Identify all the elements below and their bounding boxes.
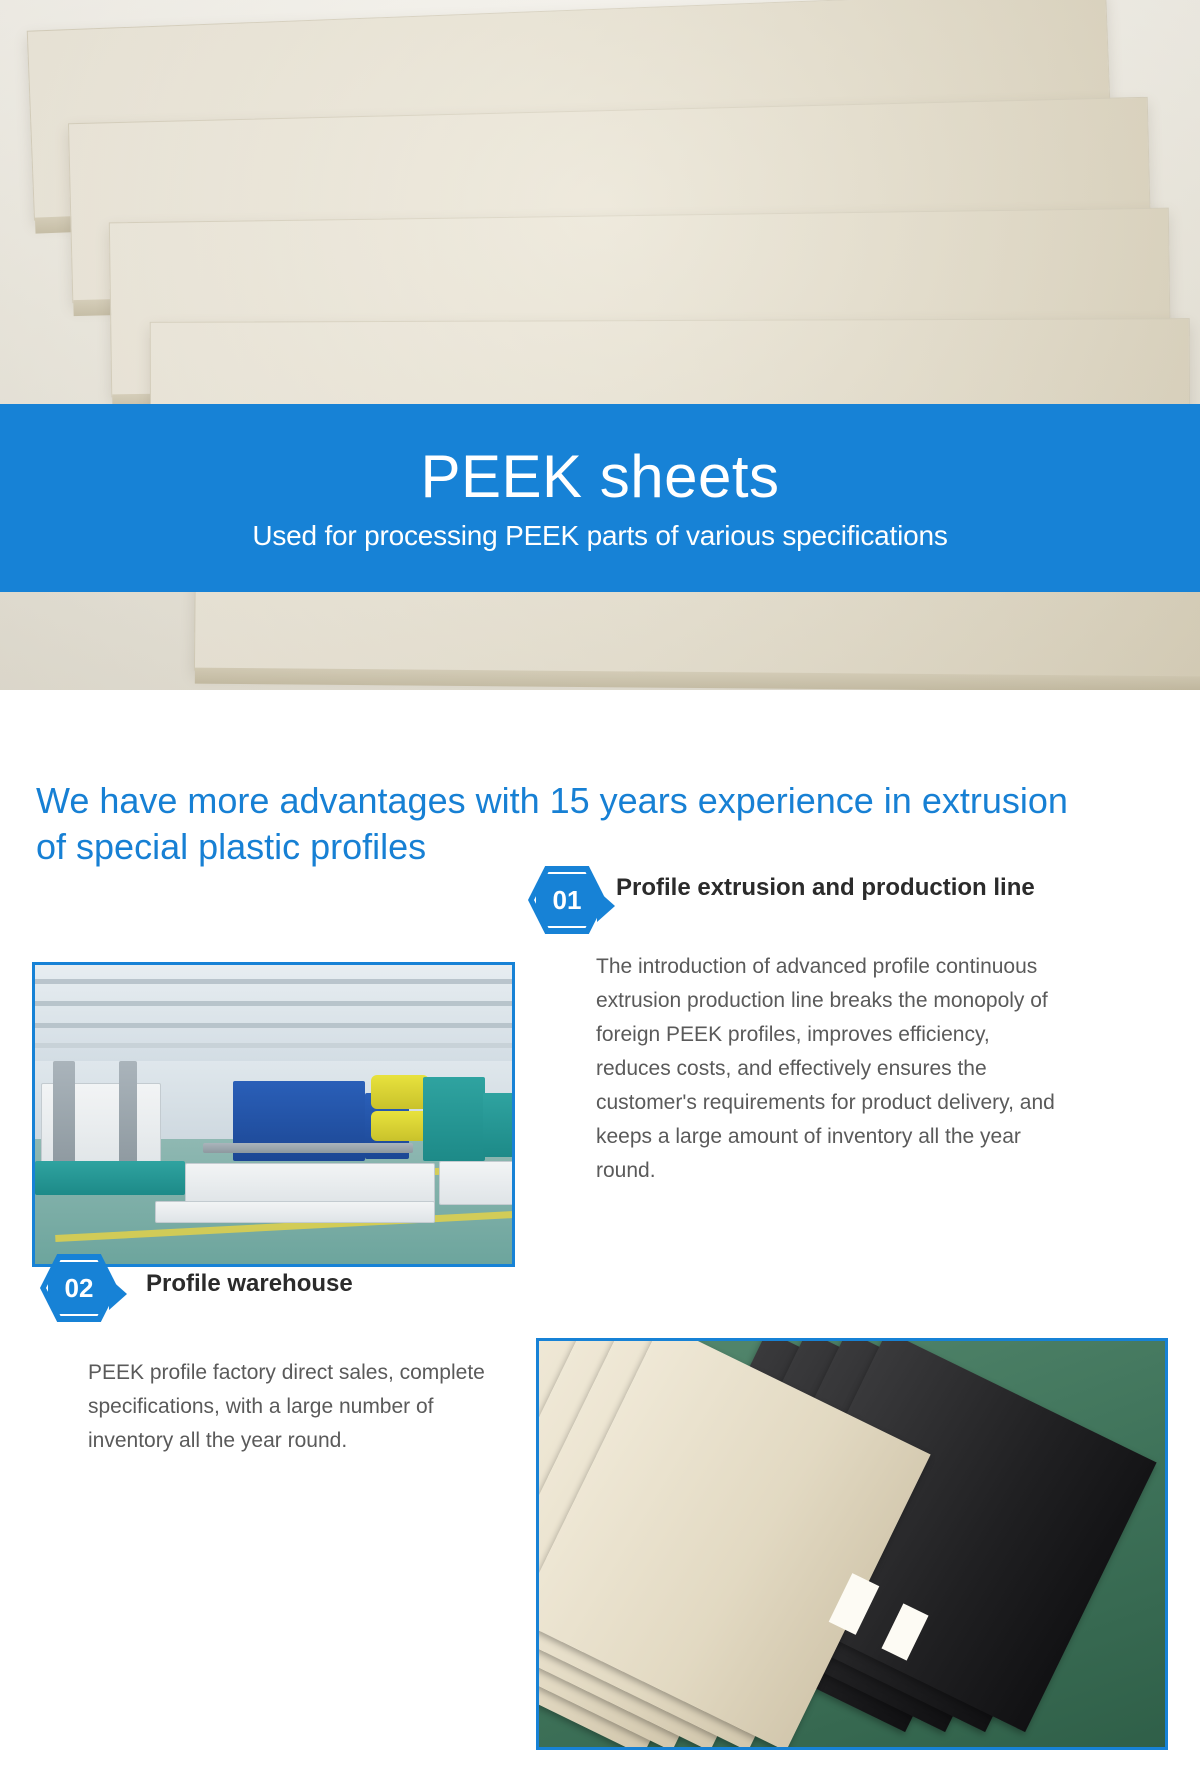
machine-cabinet — [439, 1161, 515, 1205]
advantages-headline: We have more advantages with 15 years ex… — [36, 778, 1076, 870]
machine-post — [53, 1061, 75, 1171]
warehouse-photo — [536, 1338, 1168, 1750]
ceiling-beam — [35, 1001, 512, 1006]
section-badge-02-number: 02 — [46, 1260, 112, 1316]
hero-subtitle: Used for processing PEEK parts of variou… — [252, 520, 947, 552]
production-line-photo — [32, 962, 515, 1267]
section-01-body: The introduction of advanced profile con… — [596, 950, 1066, 1188]
hero-section: PEEK sheets Used for processing PEEK par… — [0, 0, 1200, 690]
machine-pallet — [185, 1163, 435, 1205]
machine-teal-right — [423, 1077, 485, 1161]
section-02-title: Profile warehouse — [146, 1268, 506, 1300]
machine-post — [119, 1061, 137, 1171]
ceiling-beam — [35, 1023, 512, 1028]
machine-teal-far — [483, 1093, 515, 1157]
machine-skid — [155, 1201, 435, 1223]
machine-base-teal — [35, 1161, 185, 1195]
hero-title-band: PEEK sheets Used for processing PEEK par… — [0, 404, 1200, 592]
section-badge-02-pointer — [109, 1278, 127, 1310]
section-badge-01-pointer — [597, 890, 615, 922]
product-detail-page: PEEK sheets Used for processing PEEK par… — [0, 0, 1200, 1776]
section-badge-01-number: 01 — [534, 872, 600, 928]
yellow-reel — [371, 1075, 429, 1109]
section-badge-01: 01 — [528, 866, 606, 934]
section-02-body: PEEK profile factory direct sales, compl… — [88, 1356, 518, 1458]
hero-title: PEEK sheets — [420, 445, 779, 508]
section-01-title: Profile extrusion and production line — [616, 872, 1068, 904]
machine-rail — [203, 1143, 413, 1153]
ceiling-beam — [35, 1043, 512, 1048]
yellow-reel — [371, 1111, 429, 1141]
ceiling-beam — [35, 979, 512, 984]
